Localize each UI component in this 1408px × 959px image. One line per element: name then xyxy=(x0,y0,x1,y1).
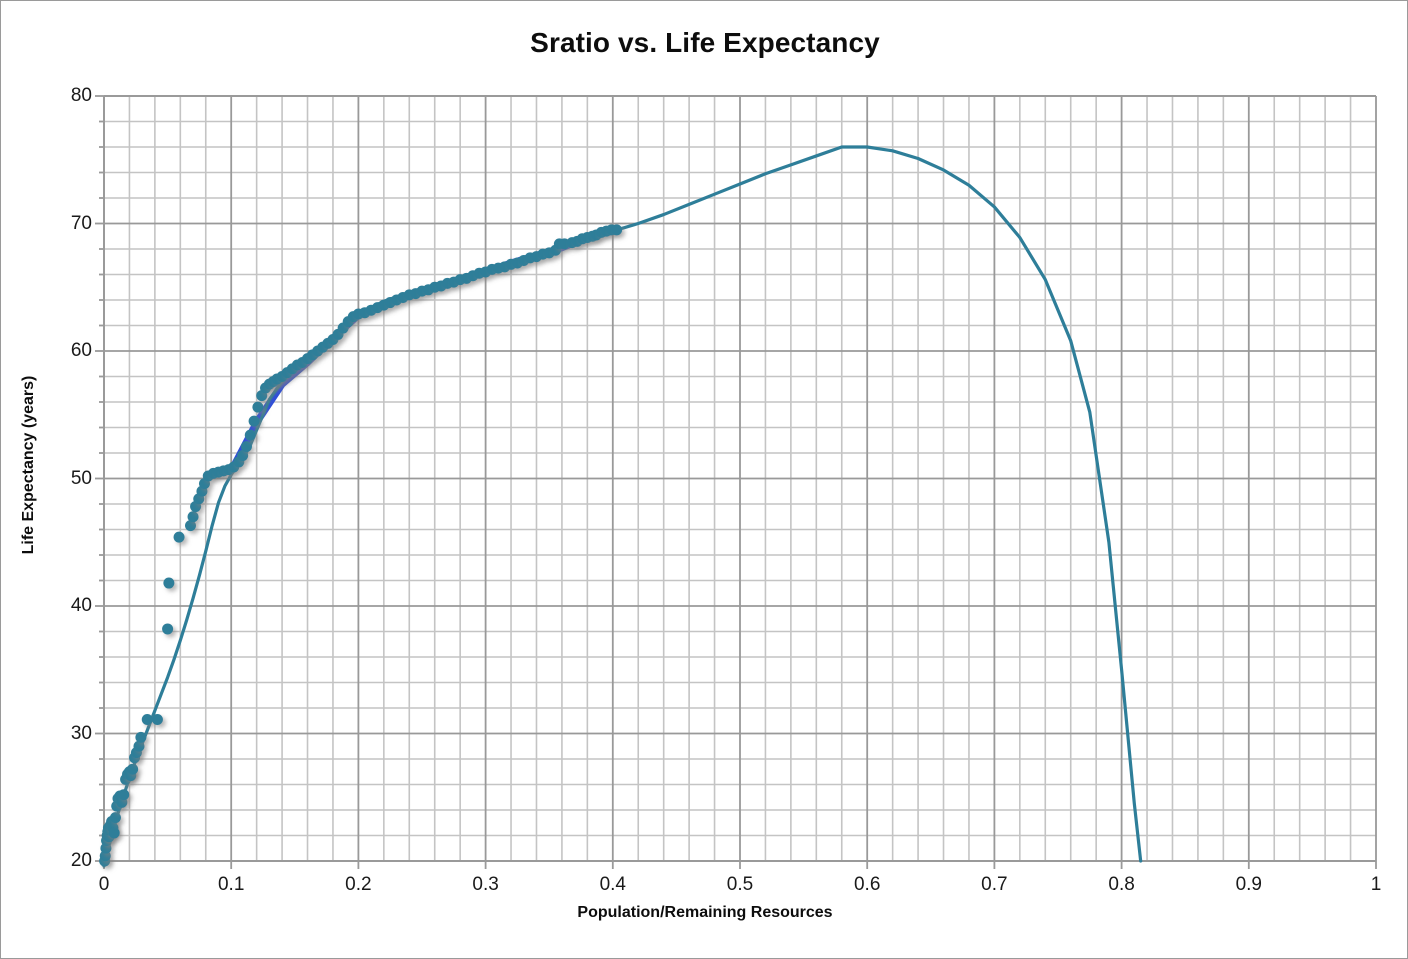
series-scatter-points xyxy=(99,224,622,866)
x-tick-label: 0 xyxy=(99,874,110,896)
x-tick-label: 0.7 xyxy=(981,874,1007,896)
y-tick-label: 40 xyxy=(44,595,92,617)
x-tick-label: 0.5 xyxy=(727,874,753,896)
x-tick-label: 0.2 xyxy=(345,874,371,896)
y-tick-label: 50 xyxy=(44,468,92,490)
plot-area xyxy=(1,1,1408,959)
major-gridlines xyxy=(104,96,1376,861)
y-tick-label: 70 xyxy=(44,213,92,235)
y-tick-label: 30 xyxy=(44,723,92,745)
y-tick-label: 80 xyxy=(44,85,92,107)
x-tick-label: 0.1 xyxy=(218,874,244,896)
x-tick-label: 0.8 xyxy=(1108,874,1134,896)
axis-tick-marks xyxy=(95,96,1376,869)
y-tick-label: 60 xyxy=(44,340,92,362)
y-tick-label: 20 xyxy=(44,850,92,872)
x-tick-label: 1 xyxy=(1371,874,1382,896)
x-tick-label: 0.6 xyxy=(854,874,880,896)
x-tick-label: 0.3 xyxy=(472,874,498,896)
chart-container: Sratio vs. Life Expectancy Life Expectan… xyxy=(0,0,1408,959)
x-tick-label: 0.9 xyxy=(1236,874,1262,896)
x-tick-label: 0.4 xyxy=(600,874,626,896)
